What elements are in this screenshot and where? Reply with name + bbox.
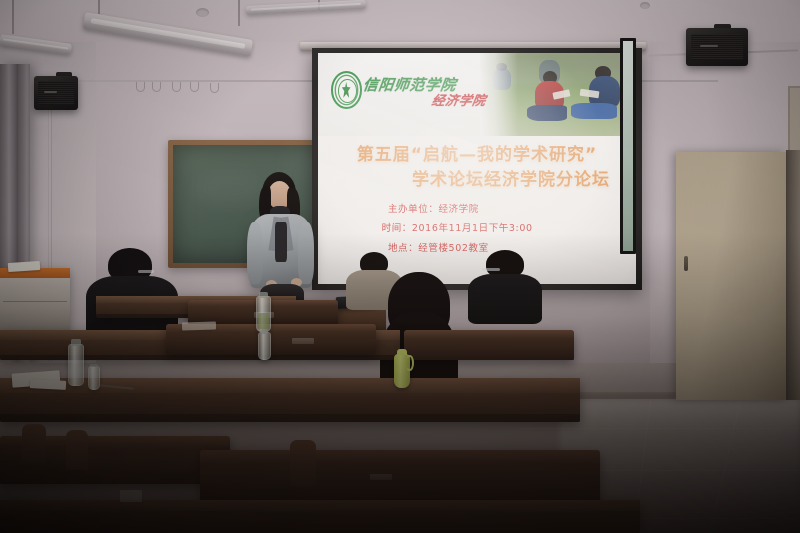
presenter-arm-left — [247, 222, 263, 284]
cable-clip-icon — [172, 82, 181, 92]
clear-water-bottle — [258, 332, 271, 360]
clear-water-bottle — [88, 366, 100, 390]
eyeglasses-icon — [482, 268, 500, 271]
presenter — [246, 172, 318, 312]
cable-clip-icon — [152, 82, 161, 92]
slide-title-line-2: 学术论坛经济学院分论坛 — [318, 165, 636, 190]
bench-armrest — [22, 424, 46, 464]
presenter-arm-right — [298, 222, 314, 284]
slide-title-line-1: 第五届“启航—我的学术研究” — [318, 140, 636, 165]
right-window-upper — [788, 86, 800, 154]
presenter-inner-top — [275, 222, 287, 262]
bench-row-middle-right — [404, 330, 574, 360]
glass-tea-bottle — [256, 296, 271, 332]
light-stem — [238, 0, 240, 26]
right-window — [620, 38, 636, 254]
cable-clip-icon — [210, 83, 219, 93]
university-logo-icon — [331, 71, 362, 108]
bench-row-near-right — [200, 450, 600, 504]
college-name: 经济学院 — [431, 90, 488, 109]
ceiling-vent-icon — [196, 8, 209, 17]
classroom-photo: 信阳师范学院 经济学院 第五届“启航—我的学术研究” 学术论坛经济学院分论坛 主… — [0, 0, 800, 533]
slide-photo — [480, 53, 636, 136]
desk-papers — [182, 321, 216, 330]
student-jacket — [468, 274, 542, 324]
bench-ticket — [120, 490, 142, 502]
eyeglasses-icon — [138, 270, 154, 273]
slide-header-band: 信阳师范学院 经济学院 — [318, 53, 636, 136]
student-dark-jacket-left — [86, 248, 178, 340]
cable-clip-icon — [136, 82, 145, 92]
desk-row-near — [0, 378, 580, 422]
slide-detail-host: 主办单位：经济学院 — [388, 201, 479, 215]
desk-row-front — [0, 500, 640, 533]
bench-armrest — [66, 430, 88, 470]
door-jamb — [786, 150, 800, 400]
door-handle-icon[interactable] — [684, 256, 688, 271]
photo-legs-a — [527, 105, 568, 122]
clear-water-bottle — [68, 344, 84, 386]
desk-papers — [30, 379, 66, 390]
wall-speaker-left — [34, 76, 78, 110]
wall-speaker-right — [686, 28, 748, 66]
bench-plaque — [292, 338, 314, 344]
student-glasses-right — [468, 250, 542, 322]
light-stem — [12, 0, 14, 34]
classroom-door[interactable] — [676, 152, 786, 400]
cable-clip-icon — [190, 82, 199, 92]
slide-detail-time: 时间：2016年11月1日下午3:00 — [382, 220, 533, 234]
photo-legs-b — [571, 103, 618, 119]
ceiling-vent-icon — [640, 2, 650, 9]
light-stem — [98, 0, 100, 14]
green-water-bottle — [394, 354, 410, 388]
bench-armrest — [290, 440, 316, 486]
bench-plaque — [370, 474, 392, 480]
